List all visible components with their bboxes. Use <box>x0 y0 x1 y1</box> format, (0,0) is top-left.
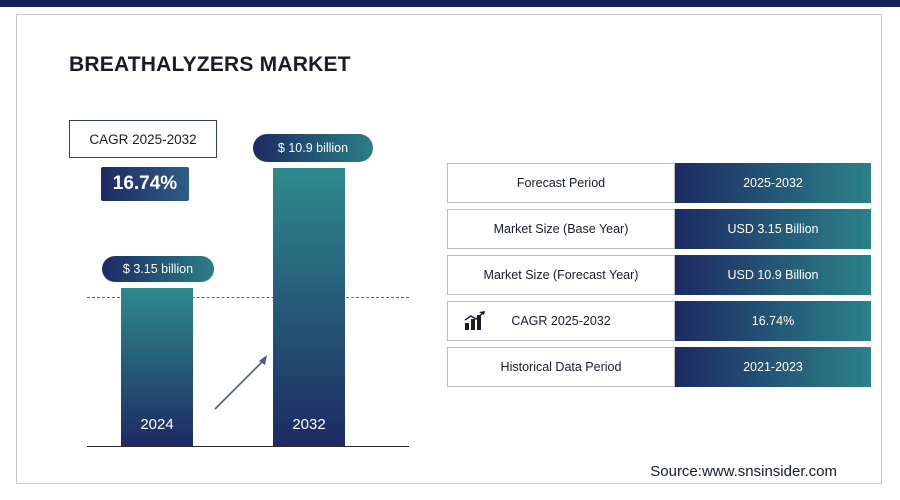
table-row: Forecast Period 2025-2032 <box>447 163 871 203</box>
x-axis-line <box>87 446 409 447</box>
bar-2032 <box>273 168 345 446</box>
value-pill-2024: $ 3.15 billion <box>102 256 214 282</box>
bar-chart: 2024 2032 $ 3.15 billion $ 10.9 billion <box>69 125 409 455</box>
page-title: BREATHALYZERS MARKET <box>69 53 351 77</box>
table-row-value: USD 10.9 Billion <box>675 255 871 295</box>
table-row-value: 2021-2023 <box>675 347 871 387</box>
table-row: Market Size (Base Year) USD 3.15 Billion <box>447 209 871 249</box>
table-row: CAGR 2025-2032 16.74% <box>447 301 871 341</box>
top-accent-bar <box>0 0 900 7</box>
source-attribution: Source:www.snsinsider.com <box>650 463 837 480</box>
table-row-label: Historical Data Period <box>447 347 675 387</box>
table-row-value: 2025-2032 <box>675 163 871 203</box>
table-row-label-cagr: CAGR 2025-2032 <box>447 301 675 341</box>
bar-label-2024: 2024 <box>121 416 193 433</box>
summary-table: Forecast Period 2025-2032 Market Size (B… <box>447 163 871 393</box>
table-row-label: Forecast Period <box>447 163 675 203</box>
table-row-label-text: CAGR 2025-2032 <box>511 314 610 328</box>
content-frame: BREATHALYZERS MARKET CAGR 2025-2032 16.7… <box>16 14 882 484</box>
table-row-value: USD 3.15 Billion <box>675 209 871 249</box>
table-row-label: Market Size (Forecast Year) <box>447 255 675 295</box>
value-pill-2032: $ 10.9 billion <box>253 134 373 162</box>
bar-label-2032: 2032 <box>273 416 345 433</box>
table-row: Market Size (Forecast Year) USD 10.9 Bil… <box>447 255 871 295</box>
bar-chart-icon <box>464 311 486 331</box>
table-row-label: Market Size (Base Year) <box>447 209 675 249</box>
table-row: Historical Data Period 2021-2023 <box>447 347 871 387</box>
table-row-value: 16.74% <box>675 301 871 341</box>
growth-arrow-icon <box>209 345 279 415</box>
